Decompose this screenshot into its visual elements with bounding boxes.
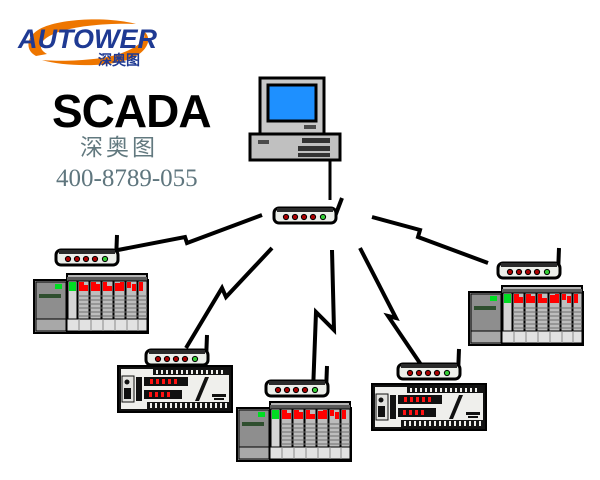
plc-rack-icon: [236, 400, 352, 462]
node-router-master[interactable]: [272, 197, 352, 242]
compact-controller-icon: [371, 383, 487, 433]
node-plc-left[interactable]: [33, 272, 149, 339]
node-plc-bottom-center[interactable]: [236, 400, 352, 467]
link-wireless-master-to-right: [372, 217, 488, 263]
plc-rack-icon: [33, 272, 149, 334]
diagram-canvas: AUTOWER 深奥图 SCADA 深奥图 400-8789-055: [0, 0, 600, 480]
desktop-computer-icon: [248, 76, 348, 162]
node-rtu-lower-left[interactable]: [117, 365, 233, 420]
compact-controller-icon: [117, 365, 233, 415]
node-plc-right[interactable]: [468, 284, 584, 351]
wireless-router-icon: [272, 197, 352, 237]
node-host-computer[interactable]: [248, 76, 348, 167]
plc-rack-icon: [468, 284, 584, 346]
node-rtu-lower-right[interactable]: [371, 383, 487, 438]
link-wireless-master-to-left: [118, 215, 262, 250]
